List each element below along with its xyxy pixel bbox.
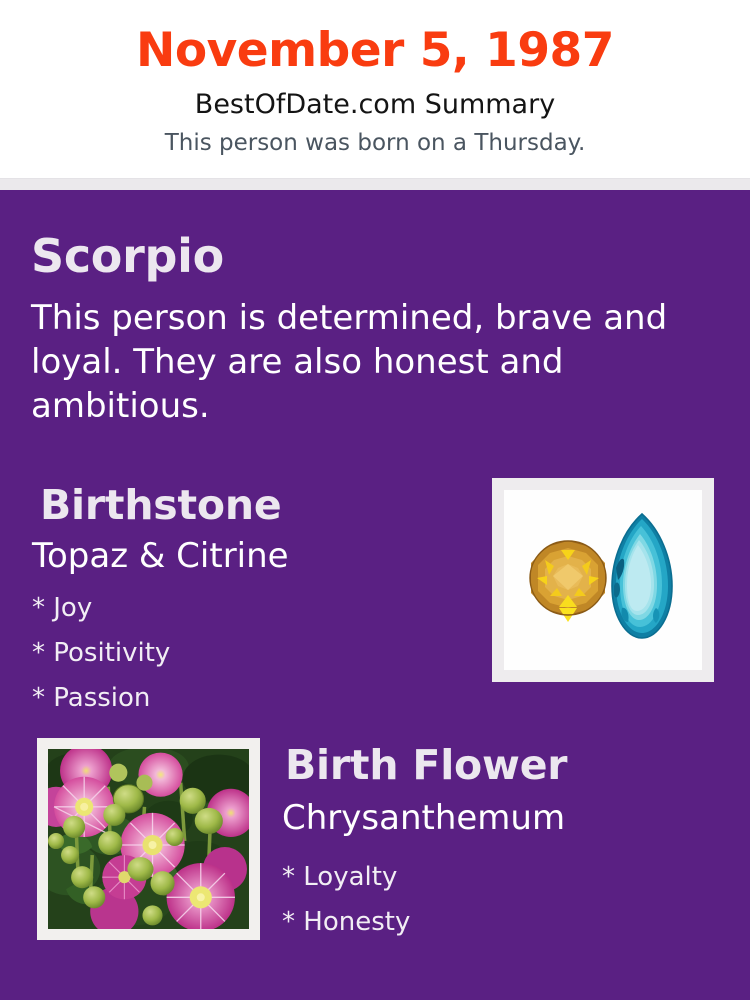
zodiac-description: This person is determined, brave and loy… — [31, 296, 703, 428]
list-item: * Loyalty — [282, 855, 702, 900]
birth-flower-name: Chrysanthemum — [282, 797, 565, 839]
gems-illustration — [504, 490, 702, 670]
birthstone-photo — [504, 490, 702, 670]
birthstone-name: Topaz & Citrine — [32, 535, 289, 577]
birthstone-trait-list: * Joy * Positivity * Passion — [32, 586, 452, 721]
list-item: * Positivity — [32, 631, 452, 676]
birth-flower-heading: Birth Flower — [285, 740, 567, 790]
list-item: * Honesty — [282, 900, 702, 945]
list-item: * Passion — [32, 676, 452, 721]
birth-flower-image-frame — [37, 738, 260, 940]
summary-card: November 5, 1987 BestOfDate.com Summary … — [0, 0, 750, 1000]
page-title-date: November 5, 1987 — [0, 22, 750, 80]
birthstone-image-frame — [492, 478, 714, 682]
birthstone-heading: Birthstone — [40, 480, 281, 530]
weekday-note: This person was born on a Thursday. — [0, 128, 750, 158]
list-item: * Joy — [32, 586, 452, 631]
birth-flower-trait-list: * Loyalty * Honesty — [282, 855, 702, 945]
zodiac-sign-heading: Scorpio — [31, 228, 224, 284]
birth-flower-photo — [48, 749, 249, 929]
chrysanthemum-illustration — [48, 749, 249, 929]
site-summary-label: BestOfDate.com Summary — [0, 88, 750, 122]
card-header: November 5, 1987 BestOfDate.com Summary … — [0, 0, 750, 178]
